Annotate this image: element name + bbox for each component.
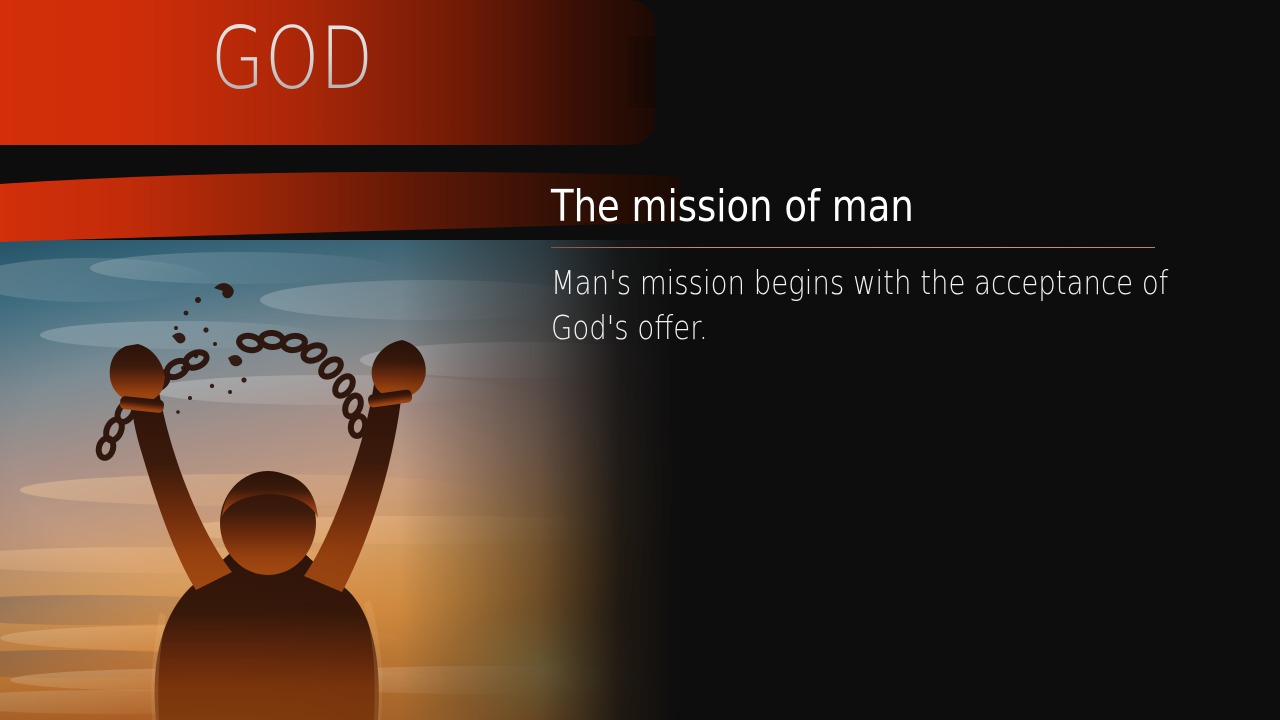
heading-divider bbox=[551, 247, 1155, 248]
content-body: Man's mission begins with the acceptance… bbox=[551, 260, 1252, 350]
presentation-slide: GOD The mission of man Man's mission beg… bbox=[0, 0, 1280, 720]
slide-title: GOD bbox=[211, 16, 374, 102]
content-text-block: The mission of man Man's mission begins … bbox=[551, 182, 1257, 232]
title-banner-tab bbox=[628, 36, 656, 108]
content-heading: The mission of man bbox=[551, 182, 1144, 232]
